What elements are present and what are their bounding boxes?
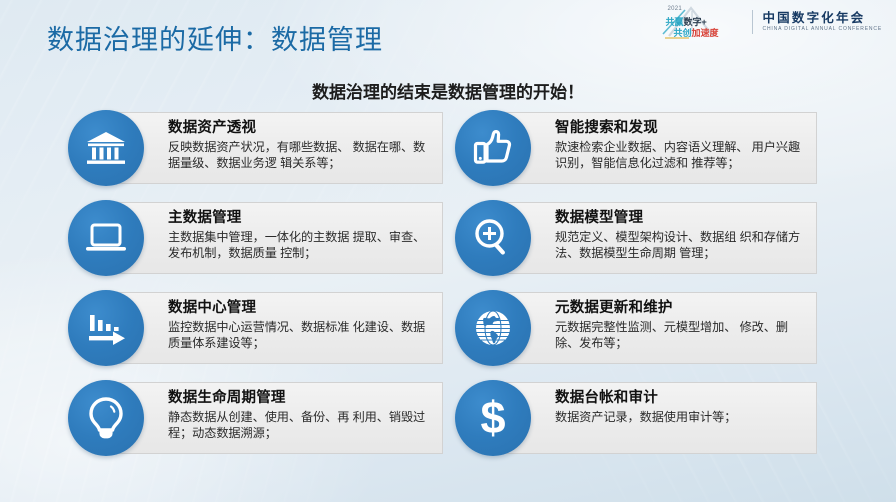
logo-name-cn: 中国数字化年会 bbox=[762, 12, 882, 25]
card-metadata-maintenance[interactable]: 元数据更新和维护 元数据完整性监测、元模型增加、 修改、删除、发布等； bbox=[455, 292, 817, 364]
card-master-data-management[interactable]: 主数据管理 主数据集中管理，一体化的主数据 提取、审查、发布机制，数据质量 控制… bbox=[68, 202, 443, 274]
logo-divider bbox=[752, 10, 753, 34]
logo-wordmark: 中国数字化年会 CHINA DIGITAL ANNUAL CONFERENCE bbox=[762, 12, 882, 32]
card-data-model-management[interactable]: 数据模型管理 规范定义、模型架构设计、数据组 织和存储方法、数据模型生命周期 管… bbox=[455, 202, 817, 274]
dollar-icon: $ bbox=[455, 380, 531, 456]
svg-text:$: $ bbox=[480, 395, 505, 441]
card-description: 款速检索企业数据、内容语义理解、 用户兴趣识别，智能信息化过滤和 推荐等； bbox=[555, 139, 809, 171]
card-data-center-management[interactable]: 数据中心管理 监控数据中心运营情况、数据标准 化建设、数据质量体系建设等； bbox=[68, 292, 443, 364]
bank-icon bbox=[68, 110, 144, 186]
card-text: 数据中心管理 监控数据中心运营情况、数据标准 化建设、数据质量体系建设等； bbox=[168, 299, 435, 352]
card-title: 数据模型管理 bbox=[555, 209, 809, 227]
logo-slogan-2b: 加速度 bbox=[692, 28, 719, 38]
card-title: 数据台帐和审计 bbox=[555, 389, 809, 407]
card-title: 数据中心管理 bbox=[168, 299, 435, 317]
card-text: 数据模型管理 规范定义、模型架构设计、数据组 织和存储方法、数据模型生命周期 管… bbox=[555, 209, 809, 262]
card-title: 数据生命周期管理 bbox=[168, 389, 435, 407]
laptop-icon bbox=[68, 200, 144, 276]
card-description: 静态数据从创建、使用、备份、再 利用、销毁过程；动态数据溯源； bbox=[168, 409, 435, 441]
logo-mark-icon: 2021 共赢数字+ 共创加速度 bbox=[659, 4, 743, 40]
card-description: 反映数据资产状况，有哪些数据、 数据在哪、数据量级、数据业务逻 辑关系等； bbox=[168, 139, 435, 171]
slide-subtitle: 数据治理的结束是数据管理的开始！ bbox=[0, 78, 896, 103]
card-description: 监控数据中心运营情况、数据标准 化建设、数据质量体系建设等； bbox=[168, 319, 435, 351]
magnifier-plus-icon bbox=[455, 200, 531, 276]
logo-slogan-line-2: 共创加速度 bbox=[673, 26, 718, 39]
card-description: 主数据集中管理，一体化的主数据 提取、审查、发布机制，数据质量 控制； bbox=[168, 229, 435, 261]
card-text: 数据台帐和审计 数据资产记录，数据使用审计等； bbox=[555, 389, 809, 425]
card-text: 智能搜索和发现 款速检索企业数据、内容语义理解、 用户兴趣识别，智能信息化过滤和… bbox=[555, 119, 809, 172]
card-title: 数据资产透视 bbox=[168, 119, 435, 137]
card-data-asset-perspective[interactable]: 数据资产透视 反映数据资产状况，有哪些数据、 数据在哪、数据量级、数据业务逻 辑… bbox=[68, 112, 443, 184]
card-data-ledger-audit[interactable]: $ 数据台帐和审计 数据资产记录，数据使用审计等； bbox=[455, 382, 817, 454]
bar-chart-arrow-icon bbox=[68, 290, 144, 366]
card-intelligent-search[interactable]: 智能搜索和发现 款速检索企业数据、内容语义理解、 用户兴趣识别，智能信息化过滤和… bbox=[455, 112, 817, 184]
logo-slogan-2a: 共创 bbox=[673, 28, 691, 38]
card-data-lifecycle-management[interactable]: 数据生命周期管理 静态数据从创建、使用、备份、再 利用、销毁过程；动态数据溯源； bbox=[68, 382, 443, 454]
slide-canvas: 数据治理的延伸：数据管理 2021 共赢数字+ 共创加速度 中国数字化年会 CH… bbox=[0, 0, 896, 502]
card-description: 规范定义、模型架构设计、数据组 织和存储方法、数据模型生命周期 管理； bbox=[555, 229, 809, 261]
card-text: 元数据更新和维护 元数据完整性监测、元模型增加、 修改、删除、发布等； bbox=[555, 299, 809, 352]
card-title: 元数据更新和维护 bbox=[555, 299, 809, 317]
thumbs-up-icon bbox=[455, 110, 531, 186]
page-title: 数据治理的延伸：数据管理 bbox=[47, 18, 383, 57]
card-title: 主数据管理 bbox=[168, 209, 435, 227]
cards-column-left: 数据资产透视 反映数据资产状况，有哪些数据、 数据在哪、数据量级、数据业务逻 辑… bbox=[68, 112, 443, 472]
conference-logo: 2021 共赢数字+ 共创加速度 中国数字化年会 CHINA DIGITAL A… bbox=[659, 3, 882, 41]
logo-year: 2021 bbox=[667, 6, 682, 12]
card-text: 数据资产透视 反映数据资产状况，有哪些数据、 数据在哪、数据量级、数据业务逻 辑… bbox=[168, 119, 435, 172]
globe-icon bbox=[455, 290, 531, 366]
card-title: 智能搜索和发现 bbox=[555, 119, 809, 137]
lightbulb-icon bbox=[68, 380, 144, 456]
card-description: 元数据完整性监测、元模型增加、 修改、删除、发布等； bbox=[555, 319, 809, 351]
card-text: 主数据管理 主数据集中管理，一体化的主数据 提取、审查、发布机制，数据质量 控制… bbox=[168, 209, 435, 262]
cards-column-right: 智能搜索和发现 款速检索企业数据、内容语义理解、 用户兴趣识别，智能信息化过滤和… bbox=[455, 112, 817, 472]
card-description: 数据资产记录，数据使用审计等； bbox=[555, 409, 809, 425]
card-text: 数据生命周期管理 静态数据从创建、使用、备份、再 利用、销毁过程；动态数据溯源； bbox=[168, 389, 435, 442]
logo-name-en: CHINA DIGITAL ANNUAL CONFERENCE bbox=[762, 27, 882, 32]
